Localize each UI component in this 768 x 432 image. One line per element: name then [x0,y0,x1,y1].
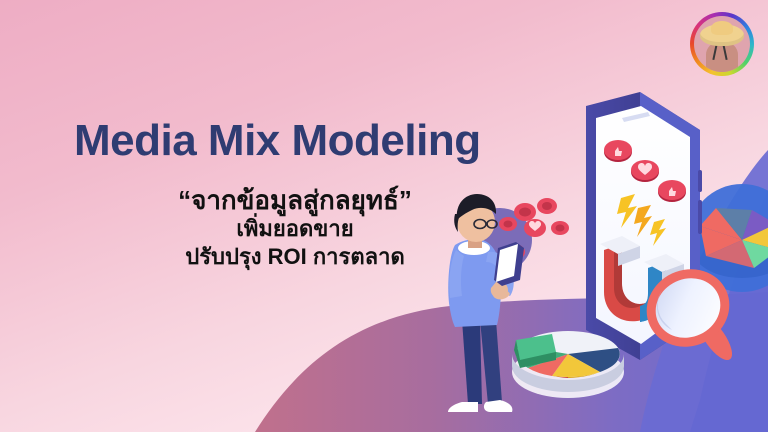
banner-canvas: Media Mix Modeling “จากข้อมูลสู่กลยุทธ์”… [0,0,768,432]
smartphone-mockup [586,92,702,360]
subtitle-quote: “จากข้อมูลสู่กลยุทธ์” [145,186,445,215]
reaction-cluster-bubble [468,198,569,272]
reaction-bubble-thumbs-up [604,140,632,162]
horseshoe-magnet [600,236,684,322]
avatar-image [694,16,750,72]
reaction-bubble-thumbs-up-2 [658,180,686,202]
subtitle-roi-keyword: ROI [268,244,307,269]
subtitle-line-3-suffix: การตลาด [307,244,405,269]
person-holding-phone [448,194,524,412]
straw-hat-crown-icon [711,21,733,35]
magnifying-glass [634,256,742,365]
subtitle-block: “จากข้อมูลสู่กลยุทธ์” เพิ่มยอดขาย ปรับปร… [145,186,445,270]
subtitle-line-3-prefix: ปรับปรุง [185,244,267,269]
page-title: Media Mix Modeling [74,116,481,166]
subtitle-line-3: ปรับปรุง ROI การตลาด [145,243,445,271]
pie-chart-3d-foreground [512,331,624,398]
reaction-bubble-heart [631,160,659,182]
pie-chart-exploded-right [688,184,768,292]
lightning-bolts [617,194,666,246]
profile-avatar-with-story-ring[interactable] [690,12,754,76]
subtitle-line-2: เพิ่มยอดขาย [145,215,445,243]
